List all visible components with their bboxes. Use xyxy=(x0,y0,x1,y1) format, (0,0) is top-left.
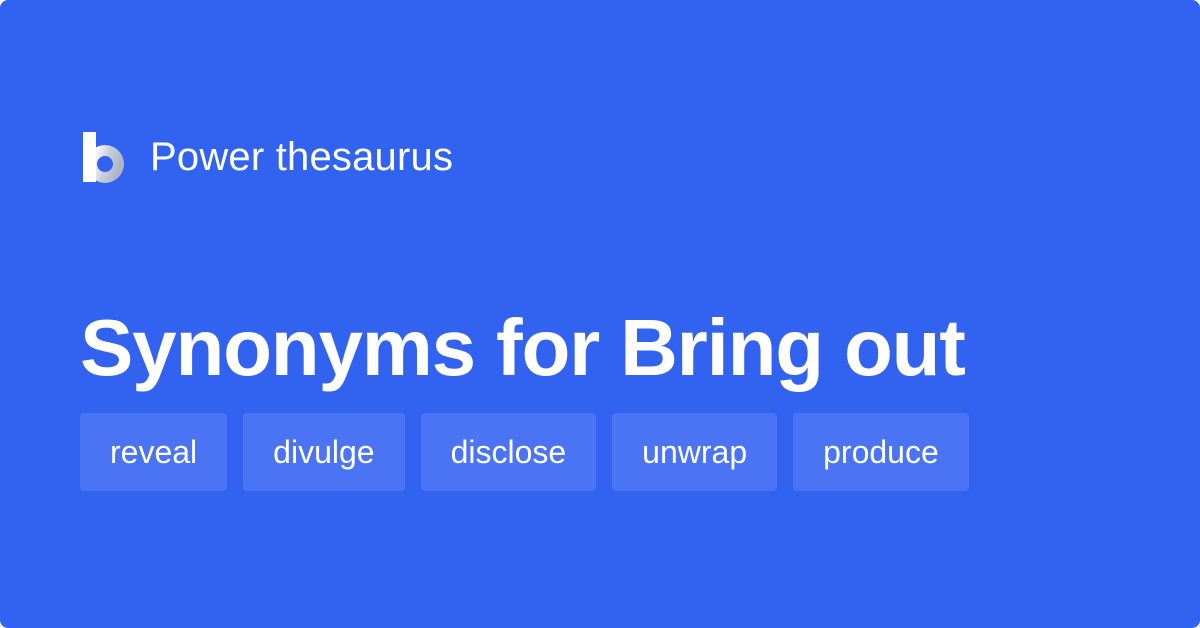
synonym-chip[interactable]: reveal xyxy=(80,413,227,491)
synonym-chip[interactable]: divulge xyxy=(243,413,404,491)
synonym-chip[interactable]: produce xyxy=(793,413,969,491)
brand-row[interactable]: Power thesaurus xyxy=(80,128,453,186)
synonym-chip-list: reveal divulge disclose unwrap produce xyxy=(80,413,1140,491)
synonym-chip[interactable]: unwrap xyxy=(612,413,777,491)
brand-name: Power thesaurus xyxy=(150,137,453,177)
power-thesaurus-logo-icon xyxy=(80,131,124,183)
open-graph-card: Power thesaurus Synonyms for Bring out r… xyxy=(0,0,1200,628)
synonym-chip[interactable]: disclose xyxy=(421,413,597,491)
page-title: Synonyms for Bring out xyxy=(80,302,1120,394)
